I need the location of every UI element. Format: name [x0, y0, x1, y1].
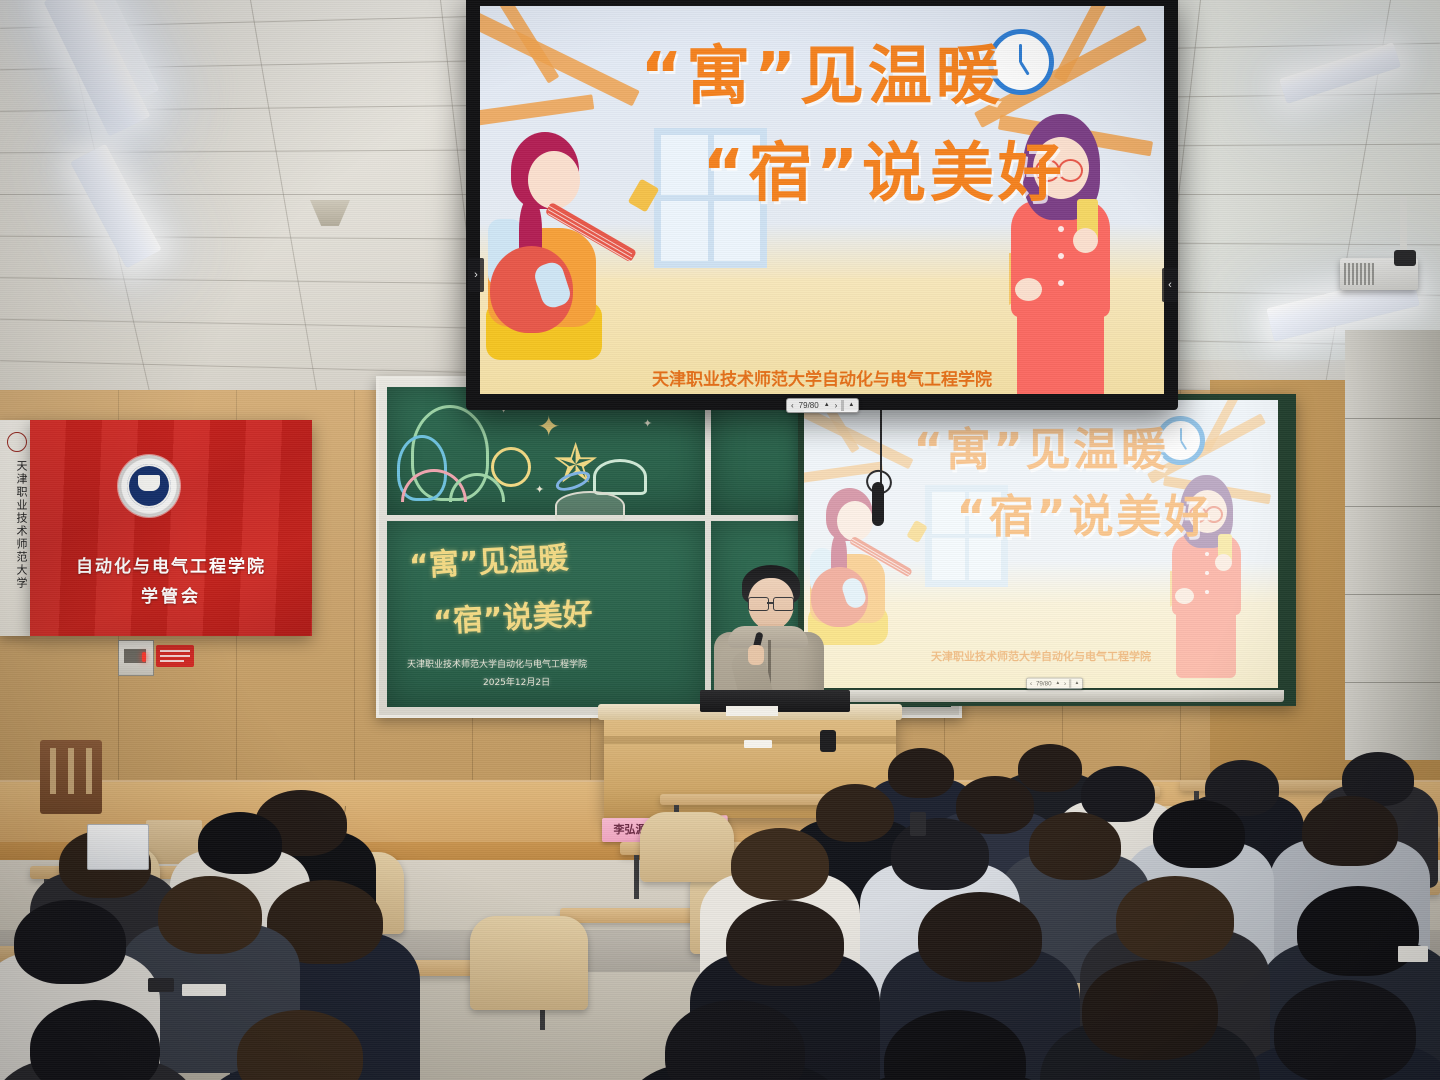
lecture-hall-photo: 天津职业技术师范大学 自动化与电气工程学院 学管会 ✦ ✯ ✦ ✦ ✦ “寓”见… [0, 0, 1440, 1080]
chalk-sunflower [491, 447, 531, 487]
student-head [158, 876, 262, 954]
student-chair [470, 916, 588, 1010]
student-head [726, 900, 844, 986]
projected-slide-next-button: › [1063, 679, 1067, 688]
student-laptop [87, 824, 149, 870]
side-chair [40, 740, 102, 814]
student-paper [182, 984, 226, 996]
student-head [891, 818, 989, 890]
wall-column [1345, 330, 1440, 760]
slide-footer-text: 天津职业技术师范大学自动化与电气工程学院 [480, 365, 1164, 390]
eyeglasses-icon [773, 597, 794, 611]
banner-side-strip: 天津职业技术师范大学 [0, 420, 32, 636]
slide-navigation-toolbar[interactable]: ‹ 79/80 ▲ › ▲ [786, 398, 859, 413]
toolbar-divider [1069, 679, 1071, 688]
student-phone [148, 978, 174, 992]
student-head [816, 784, 894, 842]
eyeglasses-bridge [767, 602, 773, 604]
eyeglasses-icon [748, 597, 769, 611]
lectern-paper [726, 706, 778, 716]
student-head [14, 900, 126, 984]
slide-up-button[interactable]: ▲ [823, 400, 831, 411]
chalk-ufo [593, 459, 647, 495]
toolbar-divider [841, 400, 844, 411]
projection-screen-tray [800, 690, 1284, 702]
projected-slide-navigation-toolbar: ‹ 79/80 ▲ › ▲ [1026, 678, 1083, 690]
student-head [1018, 744, 1082, 792]
student-head [198, 812, 282, 874]
slide-menu-button[interactable]: ▲ [847, 400, 855, 411]
student-paper [1398, 946, 1428, 962]
safety-sign [156, 645, 194, 667]
blackboard-date: 2025年12月2日 [483, 675, 550, 688]
blackboard-title-line1: “寓”见温暖 [408, 533, 570, 585]
slide-footer-text: 天津职业技术师范大学自动化与电气工程学院 [804, 648, 1278, 664]
chalk-sparkle-icon: ✦ [535, 483, 544, 496]
projection-screen: “寓”见温暖“宿”说美好天津职业技术师范大学自动化与电气工程学院 [804, 400, 1278, 688]
student-paper [744, 740, 772, 748]
student-head [1274, 980, 1416, 1080]
student-head [731, 828, 829, 900]
student-chair [640, 812, 734, 882]
university-emblem-icon [118, 455, 180, 517]
microphone-icon [872, 482, 884, 526]
student-head [1153, 800, 1245, 868]
projected-slide-page-indicator: 79/80 [1035, 679, 1052, 688]
chalk-sparkle-icon: ✦ [643, 417, 652, 430]
presenter-hand [748, 645, 764, 665]
wall-mounted-display[interactable]: “寓”见温暖“宿”说美好天津职业技术师范大学自动化与电气工程学院 [466, 0, 1178, 410]
banner-line2: 学管会 [30, 582, 312, 607]
lectern-phone [820, 730, 836, 752]
projected-slide-prev-button: ‹ [1029, 679, 1033, 688]
student-head [1302, 796, 1398, 866]
display-left-arrow-icon[interactable]: › [468, 258, 484, 292]
student-head [888, 748, 954, 798]
display-right-arrow-icon[interactable]: ‹ [1162, 268, 1178, 302]
slide-prev-button[interactable]: ‹ [790, 400, 795, 411]
student-head [1029, 812, 1121, 880]
seal-icon [7, 432, 27, 452]
blackboard-panel-text: “寓”见温暖 “宿”说美好 天津职业技术师范大学自动化与电气工程学院 2025年… [387, 521, 705, 707]
student-head [1116, 876, 1234, 962]
desk-leg [634, 855, 639, 899]
blackboard-subtitle: 天津职业技术师范大学自动化与电气工程学院 [407, 657, 587, 670]
banner-line1: 自动化与电气工程学院 [30, 552, 312, 577]
blackboard-title-line2: “宿”说美好 [432, 589, 594, 641]
chalk-rock [555, 491, 625, 521]
slide-title-line1: “寓”见温暖 [480, 25, 1164, 117]
slide-next-button[interactable]: › [834, 400, 839, 411]
student-head [1297, 886, 1419, 976]
slide-page-indicator: 79/80 [798, 400, 820, 411]
student-head [918, 892, 1042, 982]
indicator-led [142, 652, 146, 662]
projected-slide-menu-button: ▲ [1074, 679, 1080, 688]
student-phone [910, 812, 926, 836]
display-screen: “寓”见温暖“宿”说美好天津职业技术师范大学自动化与电气工程学院 [480, 6, 1164, 394]
electrical-box [118, 640, 154, 676]
projected-slide-up-button: ▲ [1055, 679, 1061, 688]
banner-side-strip-text: 天津职业技术师范大学 [3, 460, 29, 590]
slide-title-line1: “寓”见温暖 [804, 413, 1278, 478]
slide-title-line2: “宿”说美好 [480, 122, 1164, 214]
ceiling-projector-icon [1340, 258, 1418, 290]
student-head [1082, 960, 1218, 1060]
